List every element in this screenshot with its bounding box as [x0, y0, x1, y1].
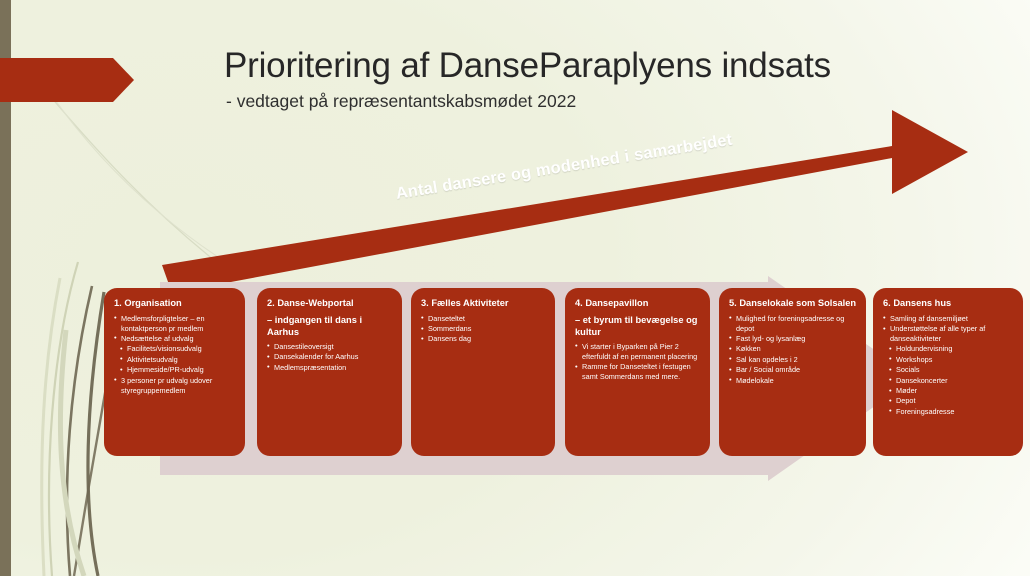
slide-canvas: Antal dansere og modenhed i samarbejdet …	[0, 0, 1030, 576]
process-box-list-level-1: Vi starter i Byparken på Pier 2 efterful…	[575, 342, 701, 382]
process-box-list-item: Dansestileoversigt	[267, 342, 393, 352]
process-box-list-item: Holdundervisning	[889, 344, 1014, 354]
process-box-list-item: Fast lyd- og lysanlæg	[729, 334, 857, 344]
process-boxes-container: 1. OrganisationMedlemsforpligtelser – en…	[0, 0, 1030, 576]
process-box-5[interactable]: 5. Danselokale som SolsalenMulighed for …	[719, 288, 866, 456]
process-box-list-level-1: Medlemsforpligtelser – en kontaktperson …	[114, 314, 236, 344]
process-box-list-item: Hjemmeside/PR-udvalg	[120, 365, 236, 375]
process-box-list-item: Sal kan opdeles i 2	[729, 355, 857, 365]
process-box-title: 6. Dansens hus	[883, 298, 1014, 310]
process-box-list-item: Socials	[889, 365, 1014, 375]
process-box-list-level-2: HoldundervisningWorkshopsSocialsDansekon…	[883, 344, 1014, 416]
process-box-list-item: Køkken	[729, 344, 857, 354]
process-box-list-item: Mulighed for foreningsadresse og depot	[729, 314, 857, 334]
process-box-list-item: Aktivitetsudvalg	[120, 355, 236, 365]
process-box-subtitle: – indgangen til dans i Aarhus	[267, 314, 393, 338]
process-box-list-item: Facilitets/visionsudvalg	[120, 344, 236, 354]
process-box-list-level-1: Mulighed for foreningsadresse og depotFa…	[729, 314, 857, 386]
process-box-list-item: Understøttelse af alle typer af danseakt…	[883, 324, 1014, 344]
process-box-list-item: Samling af dansemiljøet	[883, 314, 1014, 324]
process-box-2[interactable]: 2. Danse-Webportal– indgangen til dans i…	[257, 288, 402, 456]
process-box-title: 4. Dansepavillon	[575, 298, 701, 310]
process-box-list-item: Sommerdans	[421, 324, 546, 334]
process-box-list-item: Medlemsforpligtelser – en kontaktperson …	[114, 314, 236, 334]
process-box-list-item: Danseteltet	[421, 314, 546, 324]
process-box-list-level-1: DansestileoversigtDansekalender for Aarh…	[267, 342, 393, 373]
process-box-list-item: Dansekalender for Aarhus	[267, 352, 393, 362]
process-box-list-item: Workshops	[889, 355, 1014, 365]
process-box-list-level-1: 3 personer pr udvalg udover styregruppem…	[114, 376, 236, 396]
process-box-list-item: Depot	[889, 396, 1014, 406]
process-box-list-item: Ramme for Danseteltet i festugen samt So…	[575, 362, 701, 382]
process-box-1[interactable]: 1. OrganisationMedlemsforpligtelser – en…	[104, 288, 245, 456]
process-box-subtitle: – et byrum til bevægelse og kultur	[575, 314, 701, 338]
process-box-6[interactable]: 6. Dansens husSamling af dansemiljøetUnd…	[873, 288, 1023, 456]
process-box-title: 2. Danse-Webportal	[267, 298, 393, 310]
process-box-list-item: Medlemspræsentation	[267, 363, 393, 373]
process-box-list-level-2: Facilitets/visionsudvalgAktivitetsudvalg…	[114, 344, 236, 375]
process-box-title: 1. Organisation	[114, 298, 236, 310]
process-box-list-level-1: DanseteltetSommerdansDansens dag	[421, 314, 546, 345]
process-box-list-item: Nedsættelse af udvalg	[114, 334, 236, 344]
process-box-list-item: 3 personer pr udvalg udover styregruppem…	[114, 376, 236, 396]
process-box-list-item: Vi starter i Byparken på Pier 2 efterful…	[575, 342, 701, 362]
process-box-list-level-1: Samling af dansemiljøetUnderstøttelse af…	[883, 314, 1014, 344]
process-box-4[interactable]: 4. Dansepavillon– et byrum til bevægelse…	[565, 288, 710, 456]
process-box-list-item: Dansekoncerter	[889, 376, 1014, 386]
process-box-list-item: Bar / Social område	[729, 365, 857, 375]
process-box-title: 5. Danselokale som Solsalen	[729, 298, 857, 310]
process-box-list-item: Møder	[889, 386, 1014, 396]
process-box-title: 3. Fælles Aktiviteter	[421, 298, 546, 310]
process-box-list-item: Dansens dag	[421, 334, 546, 344]
process-box-3[interactable]: 3. Fælles AktiviteterDanseteltetSommerda…	[411, 288, 555, 456]
process-box-list-item: Foreningsadresse	[889, 407, 1014, 417]
process-box-list-item: Mødelokale	[729, 376, 857, 386]
